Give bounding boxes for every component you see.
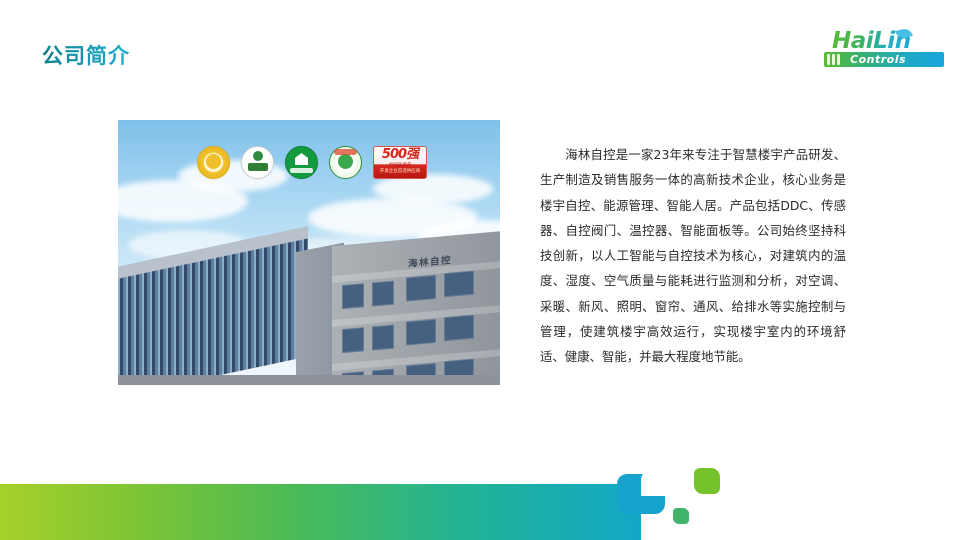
green-building-badge xyxy=(285,146,318,179)
footer-green-square-small xyxy=(673,508,689,524)
top500-number: 500强 xyxy=(382,147,418,162)
gold-seal-badge xyxy=(197,146,230,179)
top500-sub: 中国房地产 xyxy=(389,162,412,167)
ground-strip xyxy=(118,375,500,385)
company-building-photo: 500强 中国房地产 开发企业首选供应商 海林 xyxy=(118,120,500,385)
top500-badge: 500强 中国房地产 开发企业首选供应商 xyxy=(373,146,427,179)
page-title: 公司简介 xyxy=(42,40,130,70)
footer-green-square-large xyxy=(694,468,720,494)
company-description-text: 海林自控是一家23年来专注于智慧楼宇产品研发、生产制造及销售服务一体的高新技术企… xyxy=(540,147,846,364)
brand-logo: HaiLin Controls xyxy=(820,30,948,70)
top500-ribbon: 开发企业首选供应商 xyxy=(380,168,421,174)
eco-label-badge xyxy=(329,146,362,179)
slide-root: 公司简介 HaiLin Controls 500强 中国房地产 开发企业首选供应… xyxy=(0,0,960,540)
footer-gradient-bar xyxy=(0,484,641,540)
certification-badges: 500强 中国房地产 开发企业首选供应商 xyxy=(197,146,427,179)
quality-certificate-badge xyxy=(241,146,274,179)
company-description: 海林自控是一家23年来专注于智慧楼宇产品研发、生产制造及销售服务一体的高新技术企… xyxy=(540,142,846,370)
building-right-wing xyxy=(332,231,500,385)
footer-cyan-block-cutout xyxy=(641,470,671,496)
logo-tagline: Controls xyxy=(850,52,906,67)
logo-ticks-icon xyxy=(827,54,840,65)
